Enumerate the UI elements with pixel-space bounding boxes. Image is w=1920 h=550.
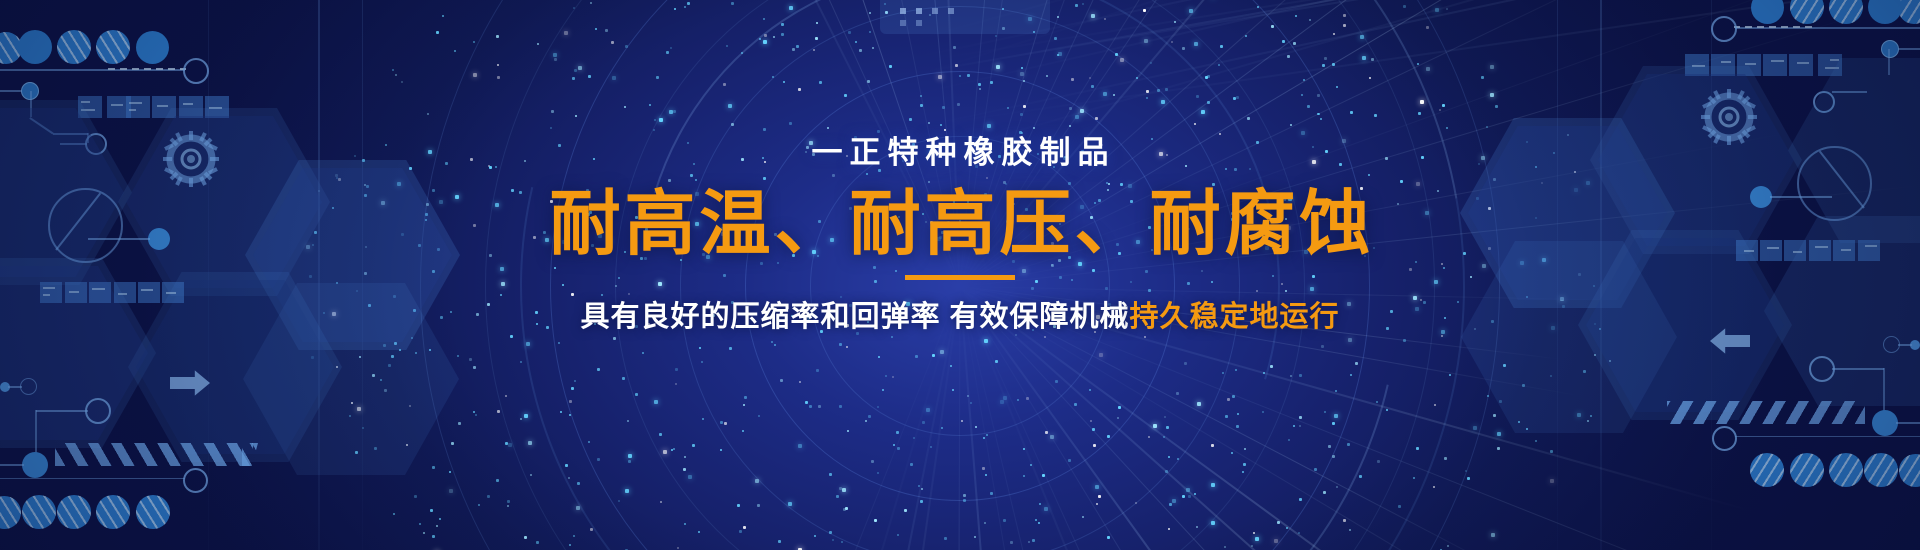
- tagline-white-part: 具有良好的压缩率和回弹率 有效保障机械: [580, 301, 1129, 333]
- brand-eyebrow: 一正特种橡胶制品: [805, 137, 1116, 168]
- orange-divider: [905, 275, 1015, 280]
- hero-banner: 一正特种橡胶制品 耐高温、耐高压、耐腐蚀 具有良好的压缩率和回弹率 有效保障机械…: [0, 0, 1920, 550]
- headline: 耐高温、耐高压、耐腐蚀: [545, 187, 1374, 262]
- tagline: 具有良好的压缩率和回弹率 有效保障机械持久稳定地运行: [580, 303, 1339, 332]
- banner-content: 一正特种橡胶制品 耐高温、耐高压、耐腐蚀 具有良好的压缩率和回弹率 有效保障机械…: [0, 0, 1920, 550]
- tagline-orange-part: 持久稳定地运行: [1130, 301, 1340, 333]
